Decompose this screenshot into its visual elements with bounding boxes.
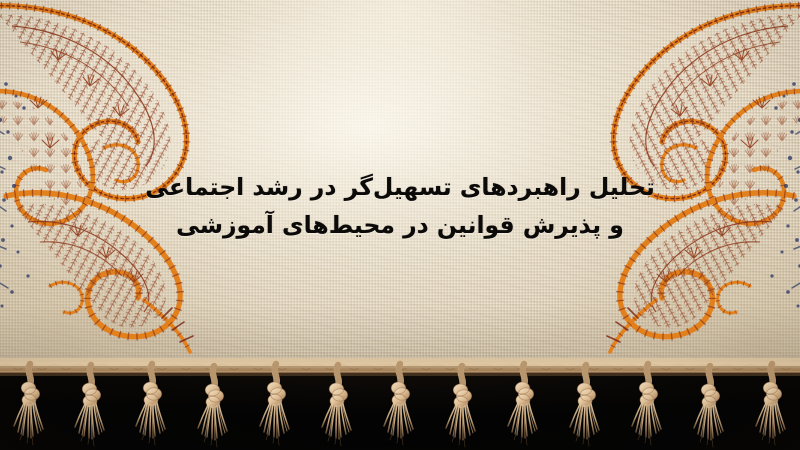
slide-canvas: تحلیل راهبردهای تسهیل‌گر در رشد اجتماعی …: [0, 0, 800, 450]
slide-title: تحلیل راهبردهای تسهیل‌گر در رشد اجتماعی …: [0, 168, 800, 244]
title-line-2: و پذیرش قوانین در محیط‌های آموزشی: [0, 206, 800, 244]
black-backdrop-band: [0, 366, 800, 450]
title-line-1: تحلیل راهبردهای تسهیل‌گر در رشد اجتماعی: [0, 168, 800, 206]
